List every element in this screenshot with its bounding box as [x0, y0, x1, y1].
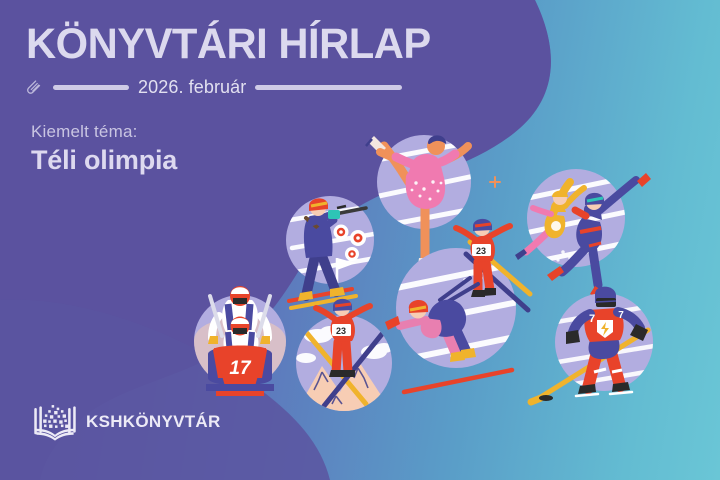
featured-topic: Kiemelt téma: Téli olimpia [31, 122, 177, 176]
dateline-rule-right [255, 85, 402, 90]
logo[interactable]: KSHKÖNYVTÁR [33, 402, 221, 442]
header: KÖNYVTÁRI HÍRLAP 2026. február [26, 22, 496, 98]
open-book-pixel-icon [33, 402, 77, 442]
topic-value: Téli olimpia [31, 145, 177, 176]
dateline: 2026. február [26, 78, 496, 98]
dateline-rule-left [53, 85, 129, 90]
topic-label: Kiemelt téma: [31, 122, 177, 142]
page-title: KÖNYVTÁRI HÍRLAP [26, 22, 482, 68]
logo-text: KSHKÖNYVTÁR [86, 412, 221, 432]
issue-date: 2026. február [138, 77, 246, 98]
paperclip-icon [26, 79, 44, 97]
poster-canvas: 23 [0, 0, 720, 480]
